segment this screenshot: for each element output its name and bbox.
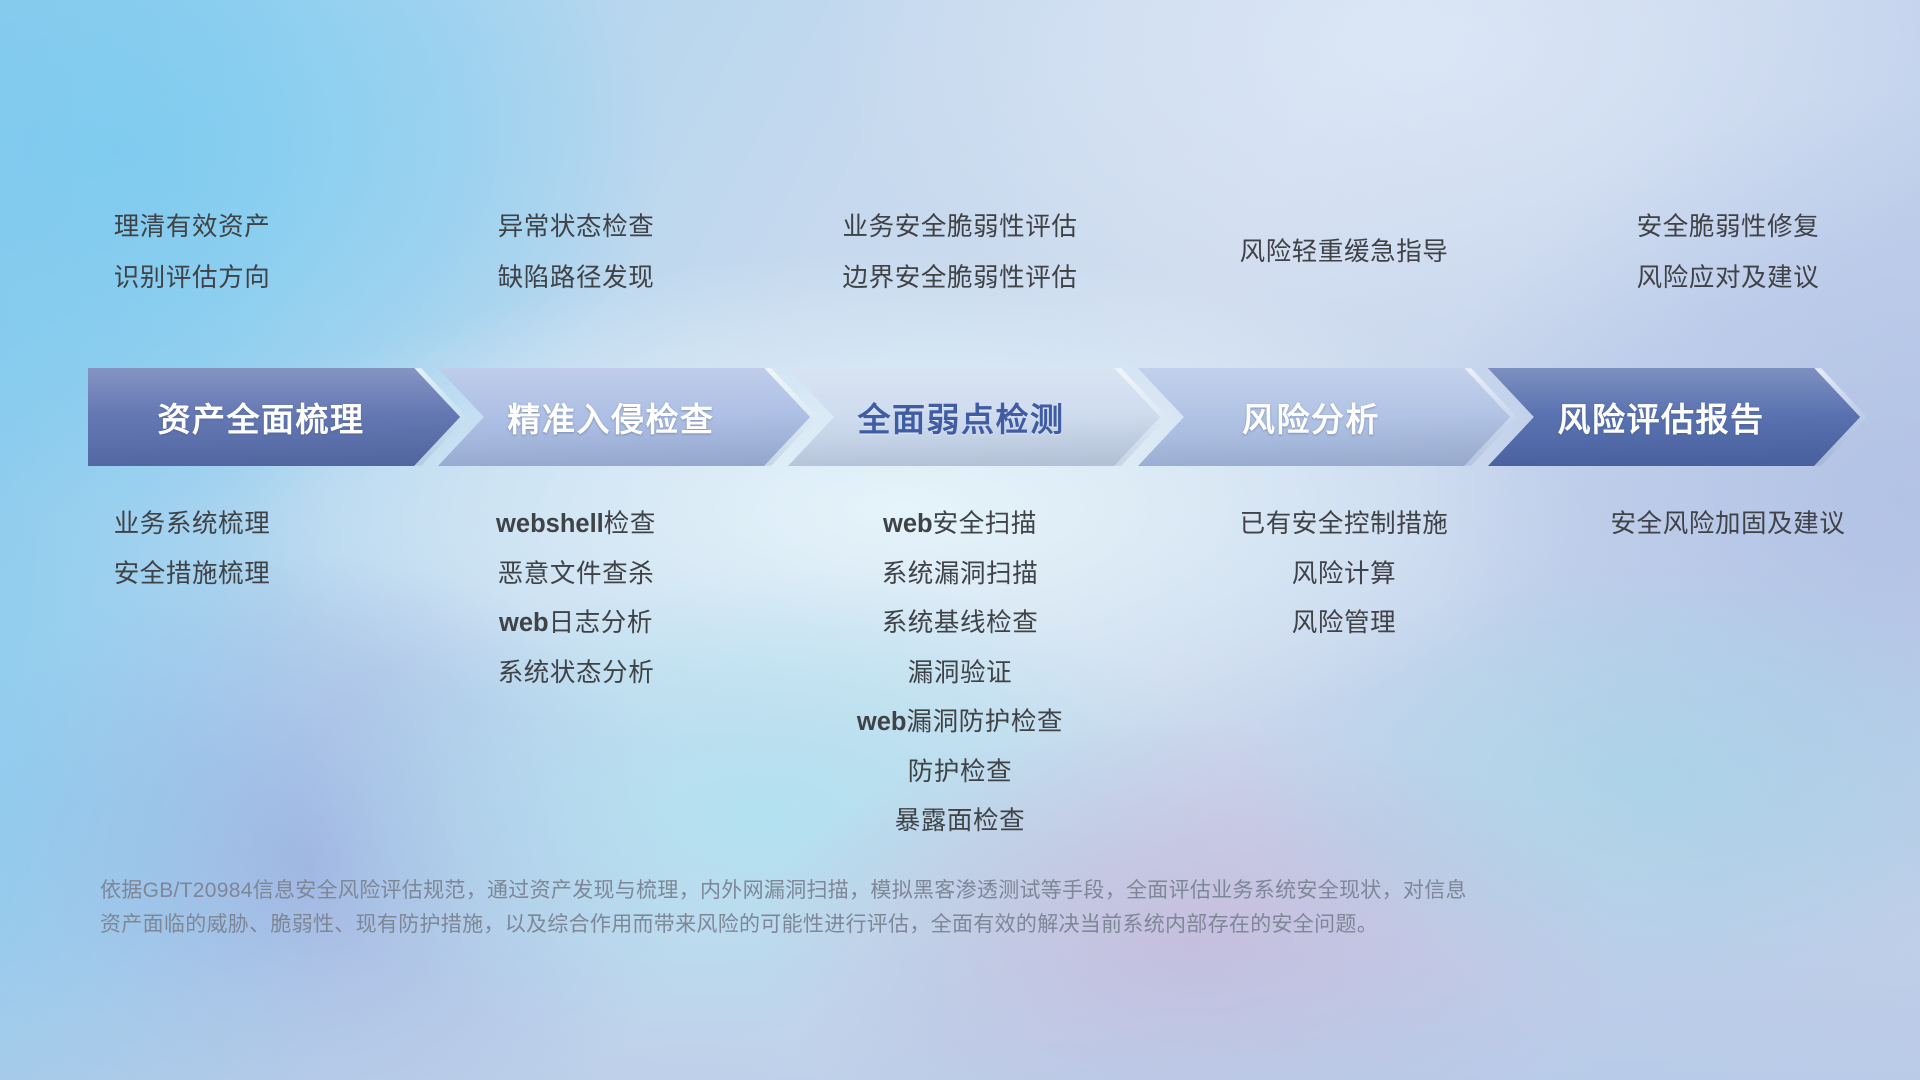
- stage-output-item: 安全风险加固及建议: [1611, 512, 1846, 538]
- chevron-stage-1[interactable]: 资产全面梳理: [88, 368, 460, 466]
- stage-inputs-column-5: 安全脆弱性修复风险应对及建议: [1536, 215, 1920, 316]
- chevron-stage-3[interactable]: 全面弱点检测: [788, 368, 1160, 466]
- output-item-cjk-part: 系统基线检查: [882, 609, 1039, 637]
- stage-output-item: 系统漏洞扫描: [882, 562, 1039, 588]
- footer-line-1: 依据GB/T20984信息安全风险评估规范，通过资产发现与梳理，内外网漏洞扫描，…: [100, 874, 1840, 908]
- output-item-latin-part: webshell: [496, 510, 604, 538]
- stage-inputs-row: 理清有效资产识别评估方向异常状态检查缺陷路径发现业务安全脆弱性评估边界安全脆弱性…: [0, 215, 1920, 316]
- output-item-cjk-part: 暴露面检查: [895, 807, 1026, 835]
- output-item-cjk-part: 系统漏洞扫描: [882, 560, 1039, 588]
- stage-output-item: 风险管理: [1292, 611, 1396, 637]
- stage-output-item: 系统状态分析: [498, 661, 655, 687]
- stage-input-item: 边界安全脆弱性评估: [843, 266, 1078, 292]
- stage-output-item: 防护检查: [908, 760, 1012, 786]
- stage-output-item: 业务系统梳理: [114, 512, 271, 538]
- stage-inputs-column-1: 理清有效资产识别评估方向: [0, 215, 384, 316]
- footer-line-2: 资产面临的威胁、脆弱性、现有防护措施，以及综合作用而带来风险的可能性进行评估，全…: [100, 908, 1840, 942]
- output-item-cjk-part: 日志分析: [549, 609, 653, 637]
- chevron-stage-title: 全面弱点检测: [858, 393, 1091, 441]
- output-item-cjk-part: 漏洞验证: [908, 659, 1012, 687]
- stage-outputs-row: 业务系统梳理安全措施梳理webshell检查恶意文件查杀web日志分析系统状态分…: [0, 512, 1920, 859]
- stage-input-item: 理清有效资产: [114, 215, 271, 241]
- stage-outputs-column-2: webshell检查恶意文件查杀web日志分析系统状态分析: [384, 512, 768, 710]
- stage-output-item: web日志分析: [499, 611, 653, 637]
- stage-output-item: 暴露面检查: [895, 809, 1026, 835]
- stage-input-item: 识别评估方向: [114, 266, 271, 292]
- stage-outputs-column-1: 业务系统梳理安全措施梳理: [0, 512, 384, 611]
- stage-output-item: 恶意文件查杀: [498, 562, 655, 588]
- chevron-process-band: 资产全面梳理精准入侵检查全面弱点检测风险分析风险评估报告: [88, 368, 1860, 466]
- chevron-stage-title: 精准入侵检查: [508, 393, 741, 441]
- stage-output-item: webshell检查: [496, 512, 656, 538]
- stage-input-item: 安全脆弱性修复: [1637, 215, 1820, 241]
- stage-output-item: web安全扫描: [883, 512, 1037, 538]
- output-item-cjk-part: 安全扫描: [933, 510, 1037, 538]
- chevron-stage-title: 风险评估报告: [1558, 393, 1791, 441]
- stage-outputs-column-3: web安全扫描系统漏洞扫描系统基线检查漏洞验证web漏洞防护检查防护检查暴露面检…: [768, 512, 1152, 859]
- output-item-cjk-part: 恶意文件查杀: [498, 560, 655, 588]
- stage-input-item: 异常状态检查: [498, 215, 655, 241]
- stage-input-item: 缺陷路径发现: [498, 266, 655, 292]
- output-item-cjk-part: 防护检查: [908, 758, 1012, 786]
- output-item-cjk-part: 漏洞防护检查: [906, 708, 1063, 736]
- stage-outputs-column-5: 安全风险加固及建议: [1536, 512, 1920, 562]
- stage-inputs-column-2: 异常状态检查缺陷路径发现: [384, 215, 768, 316]
- chevron-stage-2[interactable]: 精准入侵检查: [438, 368, 810, 466]
- stage-output-item: 已有安全控制措施: [1240, 512, 1449, 538]
- chevron-stage-title: 风险分析: [1242, 393, 1406, 441]
- chevron-stage-5[interactable]: 风险评估报告: [1488, 368, 1860, 466]
- output-item-latin-part: web: [857, 708, 907, 736]
- chevron-stage-title: 资产全面梳理: [158, 393, 391, 441]
- stage-output-item: 风险计算: [1292, 562, 1396, 588]
- stage-inputs-column-4: 风险轻重缓急指导: [1152, 215, 1536, 291]
- footer-description: 依据GB/T20984信息安全风险评估规范，通过资产发现与梳理，内外网漏洞扫描，…: [100, 874, 1840, 942]
- output-item-latin-part: web: [883, 510, 933, 538]
- stage-output-item: 漏洞验证: [908, 661, 1012, 687]
- stage-input-item: 风险应对及建议: [1637, 266, 1820, 292]
- stage-input-item: 风险轻重缓急指导: [1240, 240, 1449, 266]
- stage-output-item: web漏洞防护检查: [857, 710, 1063, 736]
- stage-output-item: 安全措施梳理: [114, 562, 271, 588]
- stage-output-item: 系统基线检查: [882, 611, 1039, 637]
- stage-inputs-column-3: 业务安全脆弱性评估边界安全脆弱性评估: [768, 215, 1152, 316]
- output-item-cjk-part: 系统状态分析: [498, 659, 655, 687]
- output-item-cjk-part: 检查: [604, 510, 656, 538]
- stage-input-item: 业务安全脆弱性评估: [843, 215, 1078, 241]
- chevron-stage-4[interactable]: 风险分析: [1138, 368, 1510, 466]
- stage-outputs-column-4: 已有安全控制措施风险计算风险管理: [1152, 512, 1536, 661]
- output-item-latin-part: web: [499, 609, 549, 637]
